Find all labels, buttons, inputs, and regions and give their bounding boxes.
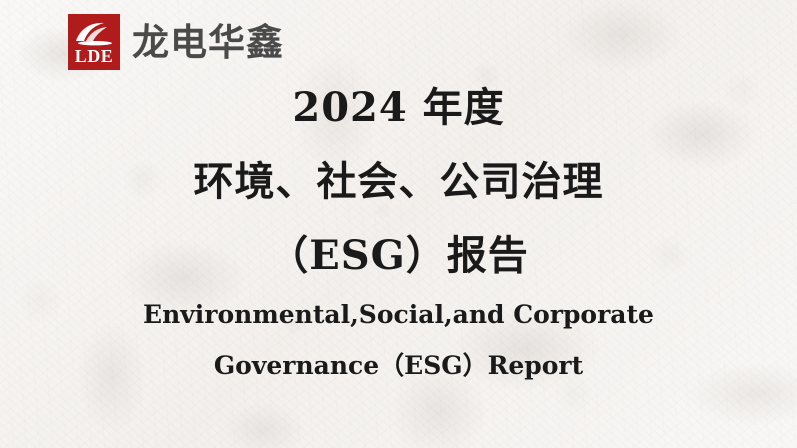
cover-title-block: 2024 年度 环境、社会、公司治理 （ESG）报告 Environmental… — [0, 88, 797, 378]
title-en-line-1: Environmental,Social,and Corporate — [0, 302, 797, 327]
logo-mark-text: LDE — [75, 47, 114, 70]
title-cn-subject: 环境、社会、公司治理 — [0, 162, 797, 202]
company-name-cn: 龙电华鑫 — [132, 24, 284, 61]
company-logo: LDE 龙电华鑫 — [68, 14, 284, 70]
title-cn-report: （ESG）报告 — [0, 236, 797, 276]
title-en-line-2: Governance（ESG）Report — [0, 353, 797, 378]
title-cn-year: 2024 年度 — [0, 88, 797, 128]
flame-swoosh-icon — [74, 20, 114, 46]
logo-mark: LDE — [68, 14, 120, 70]
esg-report-cover: LDE 龙电华鑫 2024 年度 环境、社会、公司治理 （ESG）报告 Envi… — [0, 0, 797, 448]
